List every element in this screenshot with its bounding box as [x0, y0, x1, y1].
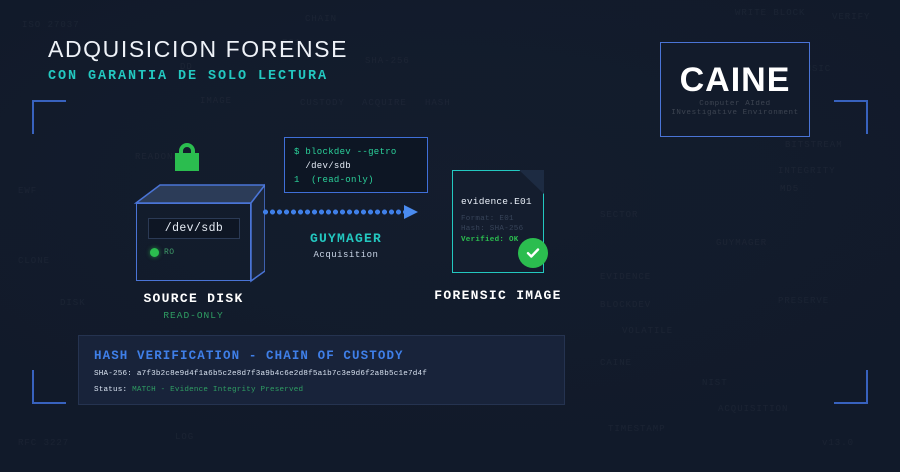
- evidence-filename: evidence.E01: [461, 196, 532, 207]
- tool-name-label: GUYMAGER: [262, 231, 430, 246]
- read-only-label: RO: [164, 248, 175, 257]
- watermark-text: HASH: [425, 98, 451, 108]
- hash-label: SHA-256:: [94, 370, 137, 378]
- watermark-text: CAINE: [600, 358, 632, 368]
- watermark-text: ACQUIRE: [362, 98, 407, 108]
- caine-logo-box: CAINE Computer AIded INvestigative Envir…: [660, 42, 810, 137]
- watermark-text: VOLATILE: [622, 326, 673, 336]
- hash-panel-title: HASH VERIFICATION - CHAIN OF CUSTODY: [94, 349, 404, 363]
- forensic-image-title: FORENSIC IMAGE: [428, 288, 568, 303]
- terminal-argument: /dev/sdb: [294, 159, 418, 173]
- watermark-text: MD5: [780, 184, 799, 194]
- watermark-text: GUYMAGER: [716, 238, 767, 248]
- watermark-text: RFC 3227: [18, 438, 69, 448]
- watermark-text: BLOCKDEV: [600, 300, 651, 310]
- hash-value-row: SHA-256: a7f3b2c8e9d4f1a6b5c2e8d7f3a9b4c…: [94, 370, 427, 378]
- status-value: MATCH - Evidence Integrity Preserved: [132, 386, 303, 394]
- watermark-text: WRITE BLOCK: [735, 8, 805, 18]
- header: ADQUISICION FORENSE CON GARANTIA DE SOLO…: [48, 36, 348, 84]
- corner-bracket-tr: [834, 100, 868, 134]
- watermark-text: EVIDENCE: [600, 272, 651, 282]
- watermark-text: CHAIN: [305, 14, 337, 24]
- watermark-text: VERIFY: [832, 12, 870, 22]
- acquisition-tool-caption: GUYMAGER Acquisition: [262, 231, 430, 260]
- forensic-acquisition-diagram: ISO 27037CHAINSHA-256E01WRITE BLOCKVERIF…: [0, 0, 900, 472]
- watermark-text: TIMESTAMP: [608, 424, 666, 434]
- evidence-verified-label: Verified: OK: [461, 236, 519, 244]
- disk-front-face: [136, 203, 251, 281]
- arrow-head-icon: [404, 205, 418, 219]
- page-title: ADQUISICION FORENSE: [48, 36, 348, 63]
- page-subtitle: CON GARANTIA DE SOLO LECTURA: [48, 69, 348, 84]
- padlock-icon: [170, 140, 204, 172]
- watermark-text: ISO 27037: [22, 20, 80, 30]
- source-disk-caption: SOURCE DISK READ-ONLY: [122, 291, 265, 321]
- watermark-text: BITSTREAM: [785, 140, 843, 150]
- terminal-window[interactable]: $ blockdev --getro /dev/sdb 1 (read-only…: [284, 137, 428, 193]
- caine-subtitle-line2: INvestigative Environment: [671, 109, 799, 117]
- source-disk-title: SOURCE DISK: [122, 291, 265, 306]
- status-dot-icon: [150, 248, 159, 257]
- watermark-text: IMAGE: [200, 96, 232, 106]
- disk-device-label: /dev/sdb: [148, 218, 240, 239]
- corner-bracket-tl: [32, 100, 66, 134]
- source-disk-subtitle: READ-ONLY: [122, 310, 265, 321]
- watermark-text: EWF: [18, 186, 37, 196]
- watermark-text: NIST: [702, 378, 728, 388]
- arrow-dotted-line: [262, 209, 404, 215]
- watermark-text: LOG: [175, 432, 194, 442]
- evidence-format-meta: Format: E01: [461, 215, 514, 223]
- watermark-text: INTEGRITY: [778, 166, 836, 176]
- status-row: Status: MATCH - Evidence Integrity Prese…: [94, 386, 303, 394]
- terminal-output: 1 (read-only): [294, 173, 418, 187]
- caine-wordmark: CAINE: [680, 63, 791, 97]
- watermark-text: v13.0: [822, 438, 854, 448]
- watermark-text: DISK: [60, 298, 86, 308]
- watermark-text: CUSTODY: [300, 98, 345, 108]
- corner-bracket-bl: [32, 370, 66, 404]
- hash-digest: a7f3b2c8e9d4f1a6b5c2e8d7f3a9b4c6e2d8f5a1…: [137, 370, 427, 378]
- evidence-hash-meta: Hash: SHA-256: [461, 225, 523, 233]
- caine-subtitle-line1: Computer AIded: [699, 100, 770, 108]
- watermark-text: SHA-256: [365, 56, 410, 66]
- terminal-command: $ blockdev --getro: [294, 145, 418, 159]
- forensic-image-group[interactable]: evidence.E01 Format: E01 Hash: SHA-256 V…: [452, 170, 544, 273]
- status-label: Status:: [94, 386, 132, 394]
- forensic-image-caption: FORENSIC IMAGE: [428, 288, 568, 303]
- hash-verification-panel: HASH VERIFICATION - CHAIN OF CUSTODY SHA…: [78, 335, 565, 405]
- watermark-text: ACQUISITION: [718, 404, 788, 414]
- watermark-text: SECTOR: [600, 210, 638, 220]
- watermark-text: PRESERVE: [778, 296, 829, 306]
- check-circle-icon: [518, 238, 548, 268]
- tool-action-label: Acquisition: [262, 250, 430, 260]
- read-only-indicator: RO: [150, 248, 175, 257]
- corner-bracket-br: [834, 370, 868, 404]
- arrow-right-icon: [262, 205, 430, 219]
- watermark-text: CLONE: [18, 256, 50, 266]
